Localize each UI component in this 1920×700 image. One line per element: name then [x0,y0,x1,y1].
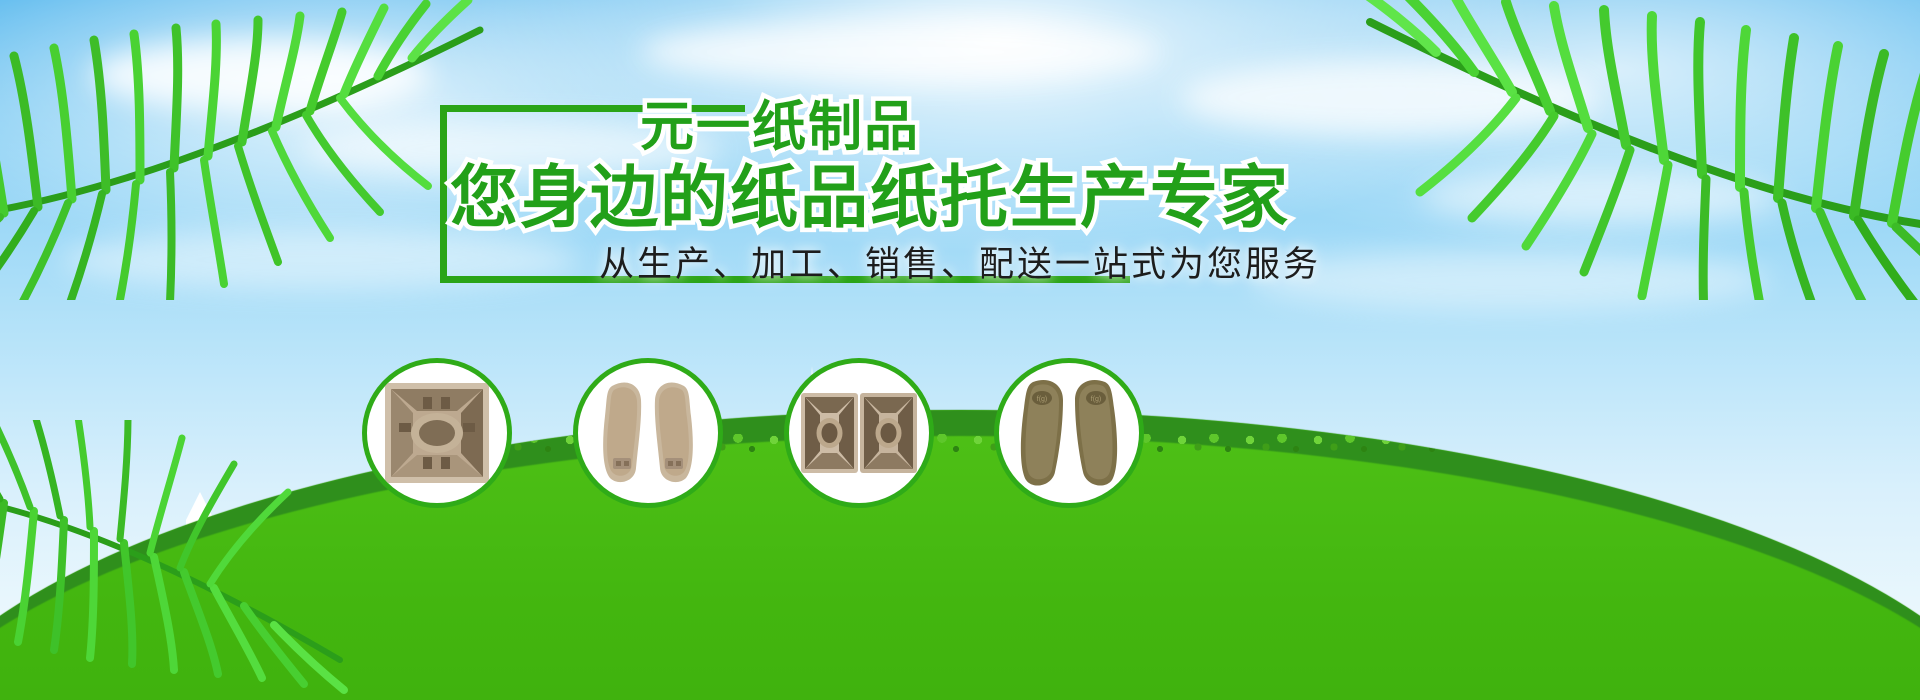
cloud-shape [1420,170,1780,224]
cloud-shape [90,40,430,110]
green-hill [0,370,1920,700]
headline-line-2: 您身边的纸品纸托生产专家 [450,142,1290,241]
promotional-banner: 元一纸制品 您身边的纸品纸托生产专家 从生产、加工、销售、配送一站式为您服务 [0,0,1920,700]
product-circle[interactable] [573,358,723,508]
product-circle[interactable]: f(g) f(g) [994,358,1144,508]
svg-text:f(g): f(g) [1091,396,1102,403]
molded-pulp-double-tray [800,391,918,475]
product-circle[interactable] [362,358,512,508]
cloud-shape [1180,60,1600,136]
molded-pulp-shoe-tree-pair: f(g) f(g) [1015,374,1123,492]
subtitle-text: 从生产、加工、销售、配送一站式为您服务 [0,236,1920,287]
molded-pulp-shoe-insert-pair [596,372,700,494]
cloud-shape [640,20,1160,84]
molded-pulp-square-tray [383,381,491,485]
svg-text:f(g): f(g) [1037,396,1048,403]
product-circle[interactable] [784,358,934,508]
